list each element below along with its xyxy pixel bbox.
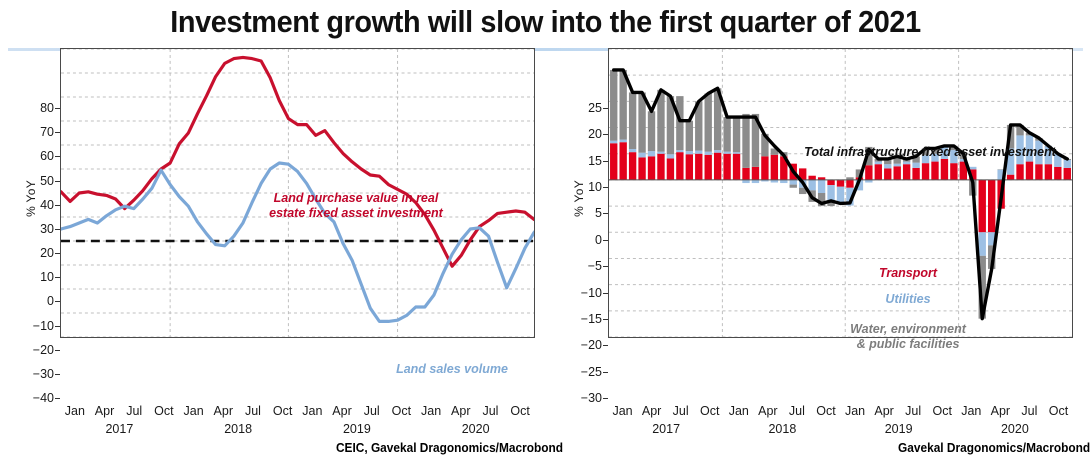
plot-area-right — [608, 48, 1073, 338]
x-year-label: 2017 — [652, 422, 680, 436]
x-tick-label: Jul — [364, 404, 380, 418]
x-tick-label: Jan — [421, 404, 441, 418]
y-tick-label: −20 — [574, 339, 602, 352]
x-tick-label: Jan — [612, 404, 632, 418]
x-tick-label: Oct — [510, 404, 529, 418]
y-tick-mark — [603, 161, 608, 162]
x-tick-label: Oct — [932, 404, 951, 418]
x-tick-label: Apr — [758, 404, 777, 418]
x-tick-label: Jan — [729, 404, 749, 418]
y-tick-label: −25 — [574, 365, 602, 378]
y-tick-mark — [603, 240, 608, 241]
x-tick-label: Jan — [302, 404, 322, 418]
y-tick-label: 5 — [574, 207, 602, 220]
y-tick-label: 0 — [26, 295, 54, 308]
y-tick-label: 30 — [26, 223, 54, 236]
y-tick-mark — [603, 266, 608, 267]
y-tick-label: −30 — [26, 368, 54, 381]
plot-frame-right — [608, 48, 1073, 338]
y-tick-label: 60 — [26, 150, 54, 163]
y-tick-label: −20 — [26, 343, 54, 356]
annotation-utilities: Utilities — [885, 292, 930, 307]
y-tick-label: 10 — [26, 271, 54, 284]
x-tick-label: Jan — [845, 404, 865, 418]
annotation-total-infrastructure: Total infrastructure fixed asset investm… — [804, 145, 1056, 160]
y-tick-mark — [603, 187, 608, 188]
y-tick-mark — [603, 372, 608, 373]
annotation-land-sales-volume: Land sales volume — [396, 362, 508, 377]
x-tick-label: Jul — [245, 404, 261, 418]
x-tick-label: Apr — [642, 404, 661, 418]
x-tick-label: Jan — [184, 404, 204, 418]
x-tick-label: Oct — [816, 404, 835, 418]
y-tick-mark — [55, 229, 60, 230]
y-tick-label: −10 — [26, 319, 54, 332]
y-tick-mark — [603, 213, 608, 214]
source-right: Gavekal Dragonomics/Macrobond — [898, 441, 1090, 455]
y-tick-label: 25 — [574, 102, 602, 115]
x-year-label: 2019 — [885, 422, 913, 436]
x-tick-label: Apr — [214, 404, 233, 418]
y-tick-mark — [603, 108, 608, 109]
y-tick-label: 40 — [26, 198, 54, 211]
x-tick-label: Jul — [126, 404, 142, 418]
annotation-transport: Transport — [879, 266, 937, 281]
x-tick-label: Apr — [874, 404, 893, 418]
y-tick-mark — [55, 108, 60, 109]
x-tick-label: Oct — [1049, 404, 1068, 418]
y-tick-label: −5 — [574, 260, 602, 273]
y-tick-mark — [55, 132, 60, 133]
y-tick-label: −10 — [574, 286, 602, 299]
annotation-water: Water, environment & public facilities — [850, 322, 966, 352]
x-year-label: 2019 — [343, 422, 371, 436]
x-tick-label: Apr — [95, 404, 114, 418]
y-tick-mark — [603, 134, 608, 135]
x-year-label: 2020 — [462, 422, 490, 436]
x-tick-label: Jan — [961, 404, 981, 418]
x-tick-label: Oct — [392, 404, 411, 418]
x-tick-label: Apr — [991, 404, 1010, 418]
y-tick-mark — [55, 156, 60, 157]
y-tick-mark — [55, 253, 60, 254]
page-title: Investment growth will slow into the fir… — [38, 4, 1053, 40]
x-tick-label: Jul — [789, 404, 805, 418]
x-tick-label: Jul — [482, 404, 498, 418]
y-tick-mark — [603, 293, 608, 294]
infographic-page: Investment growth will slow into the fir… — [0, 0, 1091, 465]
y-tick-label: 50 — [26, 174, 54, 187]
x-tick-label: Oct — [154, 404, 173, 418]
y-tick-mark — [55, 350, 60, 351]
source-left: CEIC, Gavekal Dragonomics/Macrobond — [336, 441, 563, 455]
y-tick-mark — [55, 398, 60, 399]
y-tick-mark — [55, 374, 60, 375]
x-year-label: 2020 — [1001, 422, 1029, 436]
y-tick-mark — [55, 326, 60, 327]
y-tick-label: −40 — [26, 392, 54, 405]
x-tick-label: Jan — [65, 404, 85, 418]
stacked-bar-chart-right — [609, 49, 1072, 337]
x-tick-label: Jul — [673, 404, 689, 418]
y-tick-label: 0 — [574, 234, 602, 247]
y-tick-mark — [603, 319, 608, 320]
x-year-label: 2018 — [224, 422, 252, 436]
y-tick-label: −15 — [574, 313, 602, 326]
y-tick-label: 20 — [26, 247, 54, 260]
y-tick-mark — [55, 205, 60, 206]
annotation-land-purchase-value: Land purchase value in real estate fixed… — [269, 191, 443, 221]
y-tick-label: −30 — [574, 392, 602, 405]
x-tick-label: Apr — [451, 404, 470, 418]
x-tick-label: Jul — [905, 404, 921, 418]
y-tick-mark — [55, 301, 60, 302]
y-tick-mark — [603, 398, 608, 399]
y-tick-label: 70 — [26, 126, 54, 139]
y-tick-mark — [55, 277, 60, 278]
x-year-label: 2018 — [768, 422, 796, 436]
y-tick-mark — [55, 181, 60, 182]
y-tick-label: 80 — [26, 102, 54, 115]
y-tick-label: 15 — [574, 154, 602, 167]
x-year-label: 2017 — [105, 422, 133, 436]
x-tick-label: Oct — [273, 404, 292, 418]
x-tick-label: Apr — [332, 404, 351, 418]
x-tick-label: Jul — [1021, 404, 1037, 418]
y-tick-label: 20 — [574, 128, 602, 141]
y-tick-mark — [603, 345, 608, 346]
x-tick-label: Oct — [700, 404, 719, 418]
y-tick-label: 10 — [574, 181, 602, 194]
